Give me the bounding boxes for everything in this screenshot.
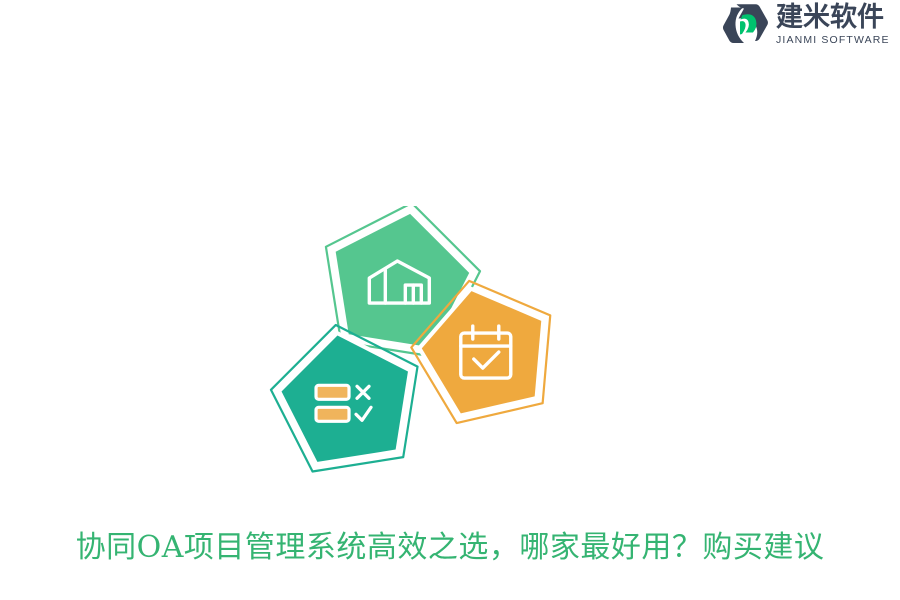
three-pentagon-oa-illustration	[268, 206, 564, 478]
brand-wordmark: 建米软件 JIANMI SOFTWARE	[776, 3, 890, 46]
brand-name-cn: 建米软件	[776, 4, 890, 32]
brand-logo[interactable]: 建米软件 JIANMI SOFTWARE	[722, 0, 900, 50]
page-title: 协同OA项目管理系统高效之选，哪家最好用？购买建议	[0, 528, 900, 567]
jianmi-leaf-hexagon-logo-icon	[722, 1, 770, 49]
brand-name-en: JIANMI SOFTWARE	[776, 34, 890, 47]
